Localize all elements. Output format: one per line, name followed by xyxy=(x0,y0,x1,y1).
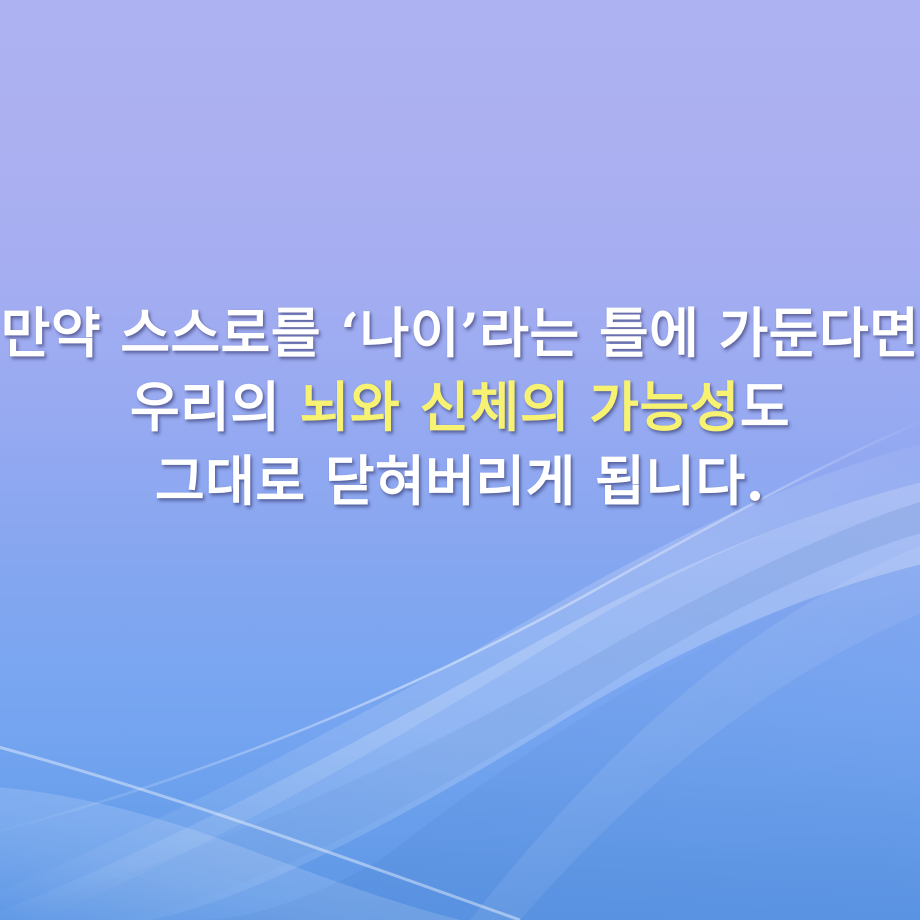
quote-line-3: 그대로 닫혀버리게 됩니다. xyxy=(0,444,920,518)
quote-line-3-segment-1: 그대로 닫혀버리게 됩니다. xyxy=(155,449,765,513)
wave-band-shadow xyxy=(0,496,920,920)
wave-sheen-upper-right xyxy=(470,538,920,920)
wave-crest-bottom-left xyxy=(0,786,460,920)
quote-text-block: 만약 스스로를 ‘나이’라는 틀에 가둔다면 우리의 뇌와 신체의 가능성도 그… xyxy=(0,296,920,518)
quote-line-1: 만약 스스로를 ‘나이’라는 틀에 가둔다면 xyxy=(0,296,920,370)
quote-line-2-segment-3: 도 xyxy=(740,375,790,439)
quote-line-1-segment-1: 만약 스스로를 ‘나이’라는 틀에 가둔다면 xyxy=(1,301,920,365)
quote-line-2-highlight: 뇌와 신체의 가능성 xyxy=(300,375,740,439)
quote-line-2-segment-1: 우리의 xyxy=(130,375,300,439)
wave-highlight-line xyxy=(0,742,520,920)
quote-card: 만약 스스로를 ‘나이’라는 틀에 가둔다면 우리의 뇌와 신체의 가능성도 그… xyxy=(0,0,920,920)
quote-line-2: 우리의 뇌와 신체의 가능성도 xyxy=(0,370,920,444)
wave-band-dark-lower xyxy=(200,560,920,920)
wave-band-primary xyxy=(0,478,920,920)
